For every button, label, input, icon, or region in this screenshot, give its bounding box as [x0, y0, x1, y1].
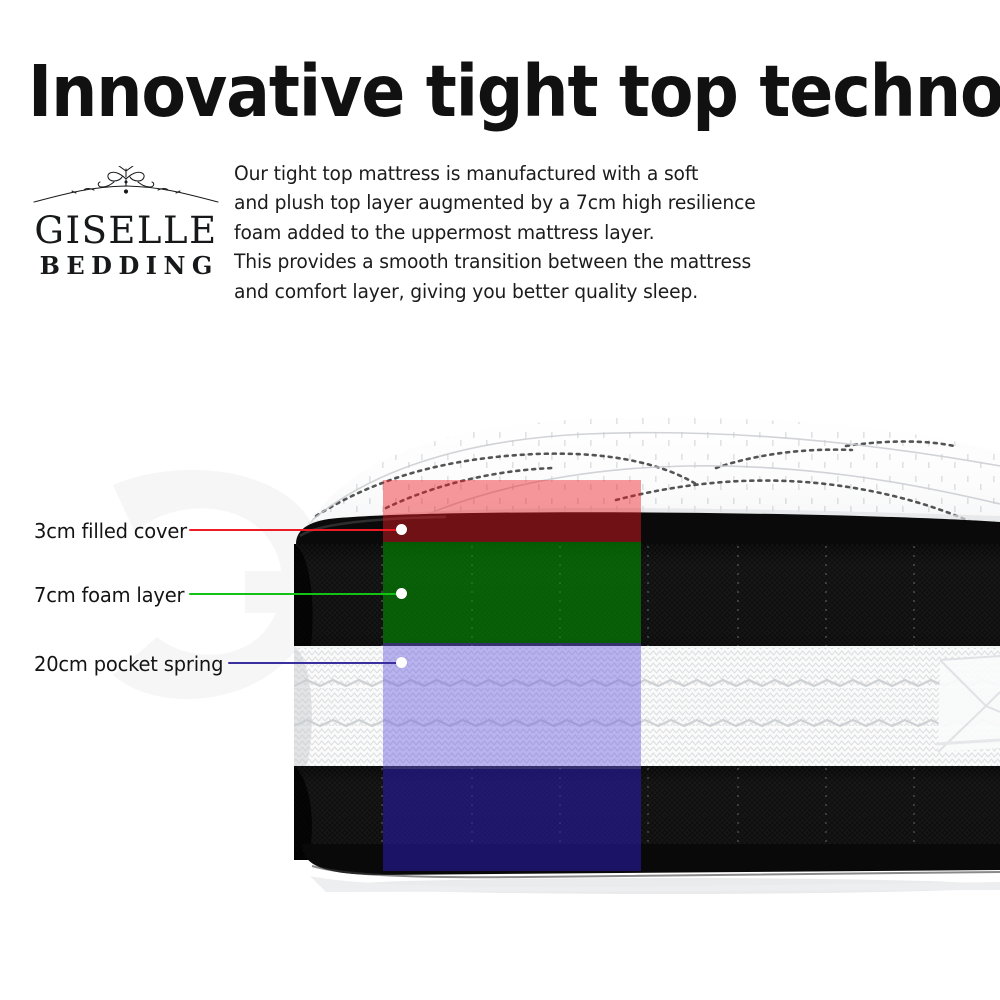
callout-dot-foam: [396, 588, 407, 599]
callout-dot-cover: [396, 524, 407, 535]
decorative-crown-flourish-icon: [28, 166, 224, 210]
callout-label-foam-layer: 7cm foam layer: [34, 583, 184, 607]
description-line-1: Our tight top mattress is manufactured w…: [234, 159, 731, 188]
bottom-piping: [302, 844, 1000, 875]
description-line-4: This provides a smooth transition betwee…: [234, 247, 731, 276]
brand-logo: GISELLE BEDDING: [28, 166, 224, 282]
leader-line-cover: [189, 529, 402, 531]
fabric-care-tag-icon: [936, 656, 1000, 752]
callout-dot-spring: [396, 657, 407, 668]
description-line-5: and comfort layer, giving you better qua…: [234, 277, 731, 306]
infographic-canvas: Innovative tight top technology GISELLE …: [0, 0, 1000, 1000]
brand-name-primary: GISELLE: [28, 210, 224, 251]
callout-label-pocket-spring: 20cm pocket spring: [34, 652, 223, 676]
description-line-2: and plush top layer augmented by a 7cm h…: [234, 188, 731, 217]
mattress-cutaway-photo: [286, 404, 1000, 896]
brand-name-secondary: BEDDING: [28, 252, 224, 279]
page-title: Innovative tight top technology: [28, 53, 897, 131]
description-line-3: foam added to the uppermost mattress lay…: [234, 218, 731, 247]
product-description: Our tight top mattress is manufactured w…: [234, 159, 731, 306]
leader-line-foam: [189, 593, 402, 595]
leader-line-spring: [228, 662, 402, 664]
callout-label-filled-cover: 3cm filled cover: [34, 519, 187, 543]
